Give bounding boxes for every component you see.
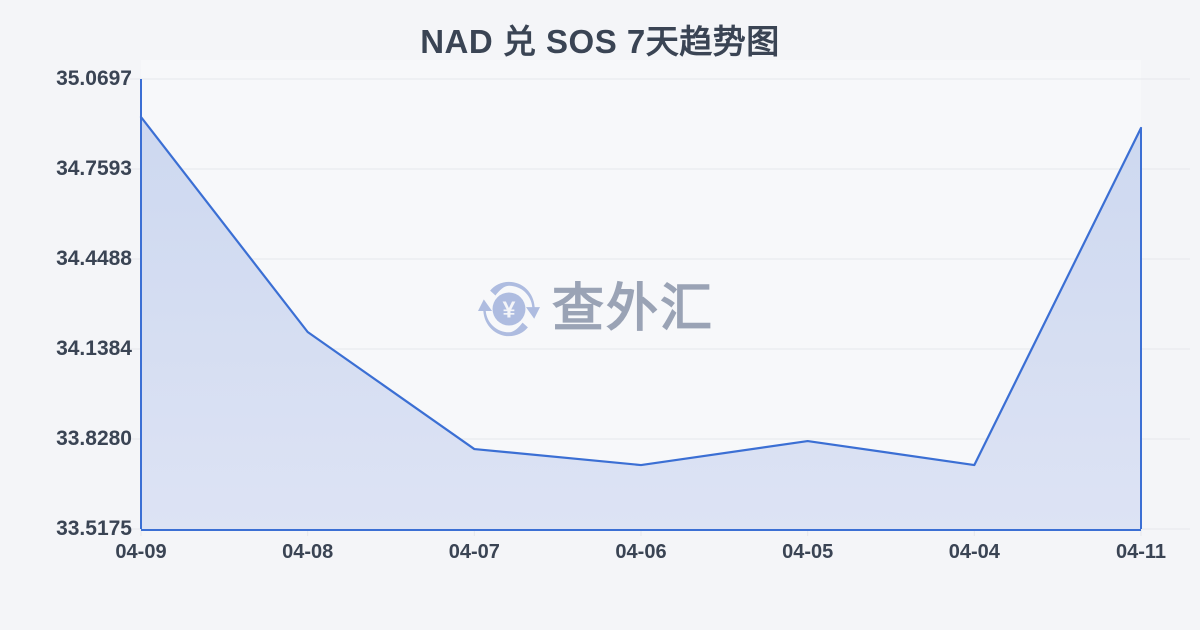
trend-chart-svg xyxy=(0,0,1200,630)
chart-plot-area: 35.069734.759334.448834.138433.828033.51… xyxy=(0,0,1200,630)
chart-page: NAD 兑 SOS 7天趋势图 35.069734.759334.448834.… xyxy=(0,0,1200,630)
